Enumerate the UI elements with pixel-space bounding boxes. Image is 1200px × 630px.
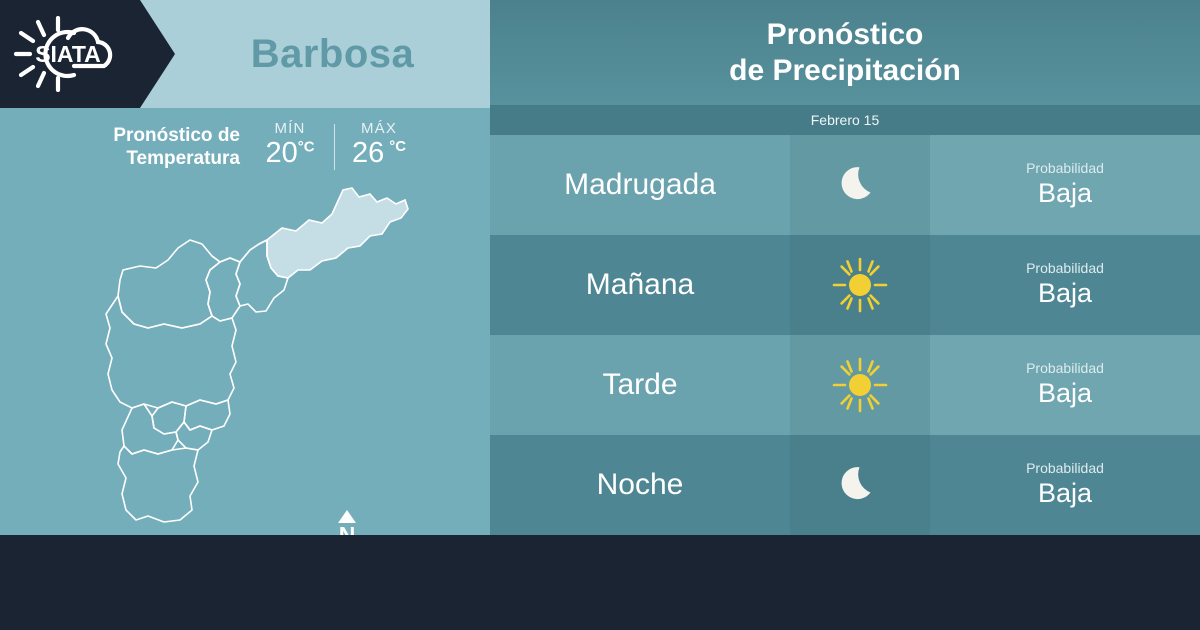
- precipitation-title-line2: de Precipitación: [729, 53, 961, 88]
- siata-logo-badge[interactable]: SIATA: [0, 0, 175, 108]
- weather-icon-cell: [790, 135, 930, 235]
- probability-label: Probabilidad: [1026, 361, 1104, 376]
- map-region-barbosa-border-extra: [212, 240, 267, 262]
- sun-icon: [831, 256, 889, 314]
- probability-label: Probabilidad: [1026, 461, 1104, 476]
- temperature-min-value-wrap: 20°C: [265, 138, 314, 168]
- temperature-max: MÁX 26°C: [347, 120, 411, 168]
- period-label: Madrugada: [490, 135, 790, 235]
- moon-icon: [834, 459, 886, 511]
- period-label: Tarde: [490, 335, 790, 435]
- map-region-la-estrella[interactable]: [122, 404, 178, 454]
- probability-cell: Probabilidad Baja: [930, 235, 1200, 335]
- map-region-sabaneta[interactable]: [176, 422, 212, 450]
- temperature-min-value: 20: [265, 137, 297, 169]
- probability-value: Baja: [1038, 278, 1092, 309]
- weather-icon-cell: [790, 235, 930, 335]
- temperature-summary: Pronóstico de Temperatura MÍN 20°C MÁX 2…: [60, 120, 480, 180]
- probability-cell: Probabilidad Baja: [930, 335, 1200, 435]
- probability-label: Probabilidad: [1026, 161, 1104, 176]
- forecast-rows: Madrugada Probabilidad Baja Mañana: [490, 135, 1200, 535]
- temperature-title: Pronóstico de Temperatura: [60, 120, 240, 170]
- temperature-min-label: MÍN: [274, 120, 305, 137]
- map-region-medellin[interactable]: [106, 296, 236, 408]
- temperature-title-line1: Pronóstico de: [60, 124, 240, 147]
- forecast-date: Febrero 15: [490, 105, 1200, 135]
- period-label: Mañana: [490, 235, 790, 335]
- temperature-values: MÍN 20°C MÁX 26°C: [258, 120, 411, 170]
- sun-cloud-icon: SIATA: [12, 16, 128, 92]
- sun-icon: [831, 356, 889, 414]
- temperature-min: MÍN 20°C: [258, 120, 322, 168]
- temperature-max-label: MÁX: [361, 120, 397, 137]
- precipitation-title: Pronóstico de Precipitación: [729, 17, 961, 88]
- weather-forecast-poster: SIATA Barbosa Pronóstico de Temperatura …: [0, 0, 1200, 630]
- temperature-title-line2: Temperatura: [60, 147, 240, 170]
- temperature-max-unit: °C: [389, 138, 406, 155]
- probability-cell: Probabilidad Baja: [930, 435, 1200, 535]
- forecast-row-tarde[interactable]: Tarde: [490, 335, 1200, 435]
- map-region-caldas[interactable]: [118, 446, 198, 522]
- city-title: Barbosa: [175, 0, 490, 108]
- left-header: SIATA Barbosa: [0, 0, 490, 108]
- probability-label: Probabilidad: [1026, 261, 1104, 276]
- map-region-envigado[interactable]: [184, 400, 230, 430]
- map-svg: [60, 178, 460, 530]
- precipitation-panel: Pronóstico de Precipitación Febrero 15 M…: [490, 0, 1200, 535]
- aburra-valley-map: N: [60, 178, 460, 530]
- siata-logo-text: SIATA: [35, 41, 101, 67]
- probability-value: Baja: [1038, 178, 1092, 209]
- forecast-row-madrugada[interactable]: Madrugada Probabilidad Baja: [490, 135, 1200, 235]
- temperature-max-value-wrap: 26°C: [352, 138, 406, 168]
- temperature-min-unit: °C: [298, 138, 315, 155]
- temperature-max-value: 26: [352, 137, 384, 169]
- precipitation-header: Pronóstico de Precipitación: [490, 0, 1200, 105]
- period-label: Noche: [490, 435, 790, 535]
- footer: @siatamedellin www.siata.gov.co Con el a…: [0, 535, 1200, 630]
- forecast-row-noche[interactable]: Noche Probabilidad Baja: [490, 435, 1200, 535]
- weather-icon-cell: [790, 335, 930, 435]
- map-region-barbosa[interactable]: [267, 188, 408, 278]
- temperature-panel: SIATA Barbosa Pronóstico de Temperatura …: [0, 0, 490, 535]
- weather-icon-cell: [790, 435, 930, 535]
- forecast-row-manana[interactable]: Mañana: [490, 235, 1200, 335]
- precipitation-title-line1: Pronóstico: [729, 17, 961, 52]
- temperature-divider: [334, 124, 335, 170]
- map-region-bello[interactable]: [118, 240, 220, 328]
- moon-icon: [834, 159, 886, 211]
- probability-value: Baja: [1038, 378, 1092, 409]
- probability-cell: Probabilidad Baja: [930, 135, 1200, 235]
- probability-value: Baja: [1038, 478, 1092, 509]
